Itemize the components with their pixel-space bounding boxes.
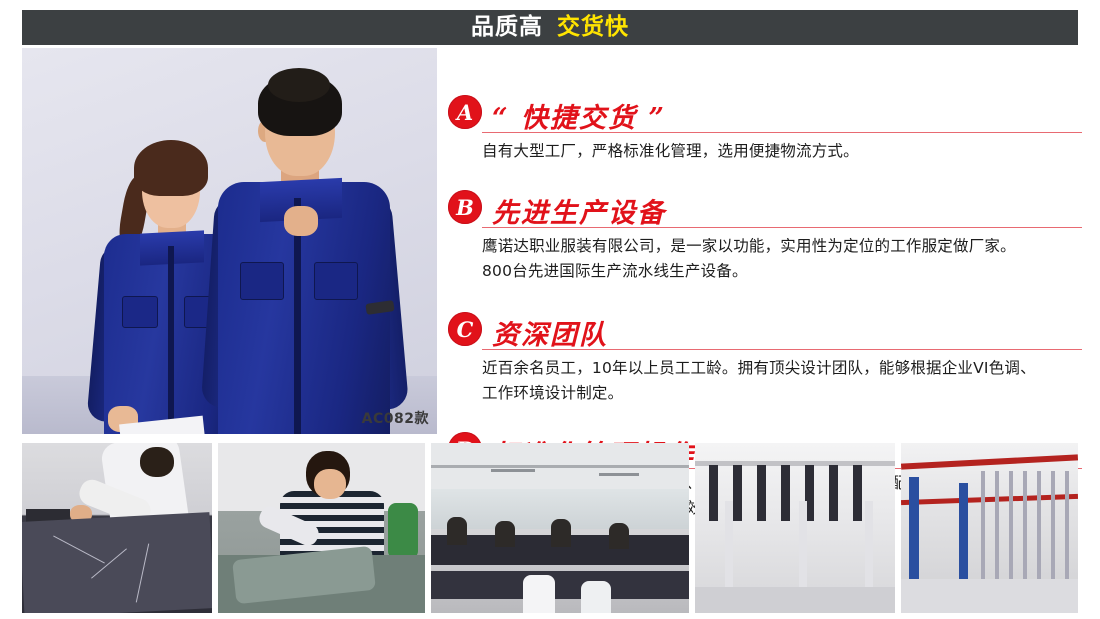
factory-gallery-strip (22, 443, 1078, 613)
production-ceiling-beam (431, 465, 689, 468)
feature-c-line-1: 近百余名员工，10年以上员工工龄。拥有顶尖设计团队，能够根据企业VI色调、 (482, 356, 1082, 380)
hanging-line-floor (695, 587, 895, 613)
hanging-garment-6 (829, 465, 838, 521)
warehouse-garment-2 (995, 471, 999, 595)
warehouse-red-beam-1 (901, 454, 1078, 469)
feature-a-line-1: 自有大型工厂，严格标准化管理，选用便捷物流方式。 (482, 139, 1082, 163)
warehouse-garment-6 (1051, 471, 1055, 595)
gallery-photo-production-line (431, 443, 689, 613)
sewing-worker-face (314, 469, 346, 499)
female-hair (134, 140, 208, 196)
hanging-garment-1 (709, 465, 718, 521)
feature-item-a: A “ 快捷交货 ” 自有大型工厂，严格标准化管理，选用便捷物流方式。 (448, 90, 1082, 163)
hanging-garment-2 (733, 465, 742, 521)
feature-a-header: A “ 快捷交货 ” (448, 90, 1082, 132)
hanging-garment-3 (757, 465, 766, 521)
feature-c-line-2: 工作环境设计制定。 (482, 381, 1082, 405)
feature-a-title: “ 快捷交货 ” (492, 105, 666, 132)
hanging-rail (695, 461, 895, 466)
header-banner: 品质高交货快 (22, 10, 1078, 45)
female-placket (168, 246, 174, 434)
hanging-garment-7 (853, 465, 862, 521)
badge-a-icon: A (448, 95, 482, 129)
warehouse-garment-7 (1065, 471, 1069, 585)
gallery-photo-sewing-room (218, 443, 425, 613)
female-pocket-left (122, 296, 158, 328)
feature-c-body: 近百余名员工，10年以上员工工龄。拥有顶尖设计团队，能够根据企业VI色调、 工作… (482, 356, 1082, 405)
feature-item-b: B 先进生产设备 鹰诺达职业服装有限公司，是一家以功能，实用性为定位的工作服定做… (448, 185, 1082, 283)
sewing-room-green-bin (388, 503, 418, 559)
page-title-accent: 交货快 (557, 14, 629, 40)
production-worker-6 (581, 581, 611, 613)
badge-b-icon: B (448, 190, 482, 224)
gallery-photo-cutting-room (22, 443, 212, 613)
badge-c-icon: C (448, 312, 482, 346)
production-worker-5 (523, 575, 555, 613)
promo-page: 品质高交货快 (0, 0, 1100, 619)
feature-b-line-1: 鹰诺达职业服装有限公司，是一家以功能，实用性为定位的工作服定做厂家。 (482, 234, 1082, 258)
feature-a-body: 自有大型工厂，严格标准化管理，选用便捷物流方式。 (482, 139, 1082, 163)
cutting-room-worker-head (140, 447, 174, 477)
ceiling-fan-2-icon (599, 473, 639, 476)
product-code-label: AC082款 (362, 408, 429, 428)
main-content: AC082款 A “ 快捷交货 ” 自有大型工厂，严格标准化管理，选用便捷物流方… (0, 48, 1100, 434)
production-worker-4 (609, 523, 629, 549)
male-pocket-left (240, 262, 284, 300)
cutting-room-fabric (22, 512, 212, 613)
feature-b-body: 鹰诺达职业服装有限公司，是一家以功能，实用性为定位的工作服定做厂家。 800台先… (482, 234, 1082, 283)
male-hand (284, 206, 318, 236)
warehouse-garment-3 (1009, 471, 1013, 587)
feature-b-header: B 先进生产设备 (448, 185, 1082, 227)
gallery-photo-hanging-line (695, 443, 895, 613)
male-pocket-right (314, 262, 358, 300)
feature-c-header: C 资深团队 (448, 307, 1082, 349)
production-worker-1 (447, 517, 467, 545)
feature-list: A “ 快捷交货 ” 自有大型工厂，严格标准化管理，选用便捷物流方式。 B 先进… (448, 48, 1082, 434)
production-worker-2 (495, 521, 515, 547)
ceiling-fan-1-icon (491, 469, 535, 472)
feature-b-title: 先进生产设备 (492, 200, 666, 227)
feature-item-c: C 资深团队 近百余名员工，10年以上员工工龄。拥有顶尖设计团队，能够根据企业V… (448, 307, 1082, 405)
warehouse-floor (901, 579, 1078, 613)
gallery-photo-warehouse (901, 443, 1078, 613)
production-row-2 (431, 571, 689, 599)
feature-b-line-2: 800台先进国际生产流水线生产设备。 (482, 259, 1082, 283)
hero-product-photo: AC082款 (22, 48, 437, 434)
page-title-primary: 品质高 (471, 14, 543, 40)
warehouse-garment-1 (981, 471, 985, 589)
production-worker-3 (551, 519, 571, 547)
warehouse-garment-5 (1037, 471, 1041, 589)
page-title: 品质高交货快 (471, 16, 629, 39)
male-hair-top (268, 68, 330, 102)
feature-c-title: 资深团队 (492, 322, 608, 349)
hanging-garment-4 (781, 465, 790, 521)
